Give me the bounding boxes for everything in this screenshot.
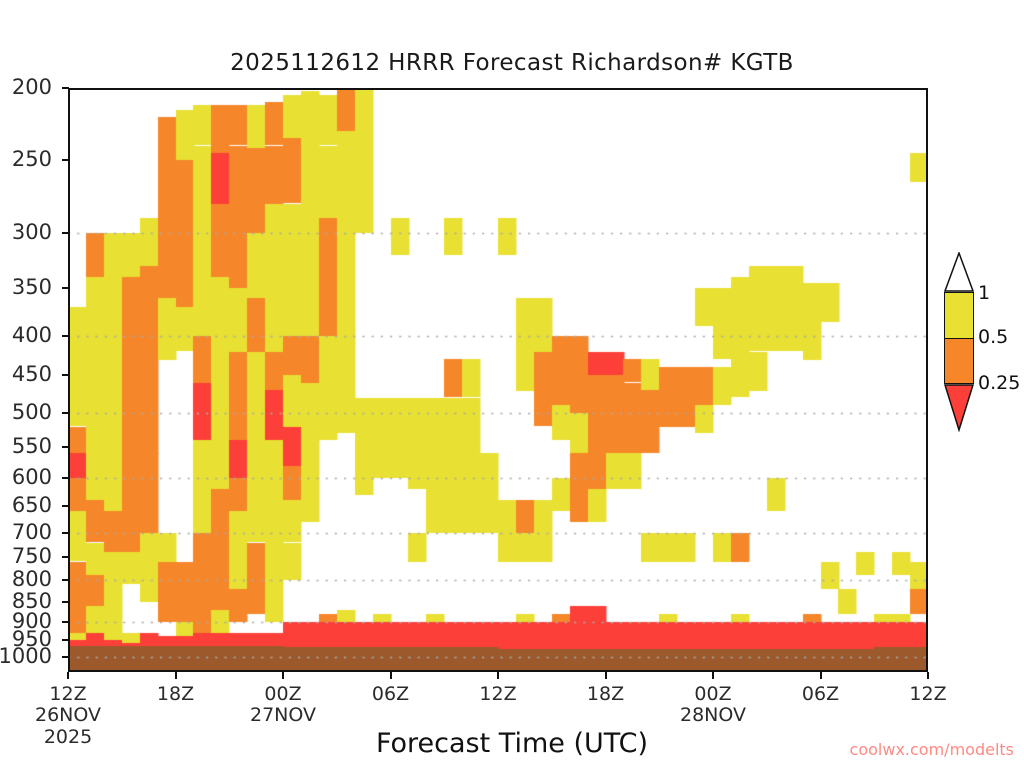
x-axis-tick-label: 12Z [868,684,988,705]
x-axis-tick-mark [175,672,177,679]
x-axis-tick-mark [712,672,714,679]
colorbar-tick-label: 0.25 [978,374,1020,393]
x-axis-tick-mark [820,672,822,679]
x-axis-tick-label: 06Z [331,684,451,705]
x-axis-tick-mark [927,672,929,679]
x-axis-tick-label: 18Z [546,684,666,705]
colorbar-segment[interactable] [944,292,974,338]
x-axis-tick-label: 12Z [438,684,558,705]
chart-stage: 2025112612 HRRR Forecast Richardson# KGT… [0,0,1024,768]
x-axis-tick-mark [390,672,392,679]
x-axis-tick-mark [497,672,499,679]
x-axis-tick-label: 00Z28NOV [653,684,773,727]
colorbar-segment[interactable] [944,338,974,384]
x-axis-tick-mark [282,672,284,679]
x-axis-tick-label: 00Z27NOV [223,684,343,727]
colorbar-under-triangle [944,384,974,432]
x-axis-tick-label: 06Z [761,684,881,705]
x-axis-tick-mark [605,672,607,679]
watermark-link[interactable]: coolwx.com/modelts [0,740,1014,759]
x-axis-tick-label: 18Z [116,684,236,705]
colorbar-tick-label: 0.5 [978,328,1008,347]
x-axis-ticks: 12Z26NOV202518Z00Z27NOV06Z12Z18Z00Z28NOV… [0,0,1024,768]
colorbar-over-triangle [944,252,974,292]
colorbar-legend[interactable]: 10.50.25 [944,292,974,478]
x-axis-tick-mark [67,672,69,679]
colorbar-tick-label: 1 [978,284,990,303]
